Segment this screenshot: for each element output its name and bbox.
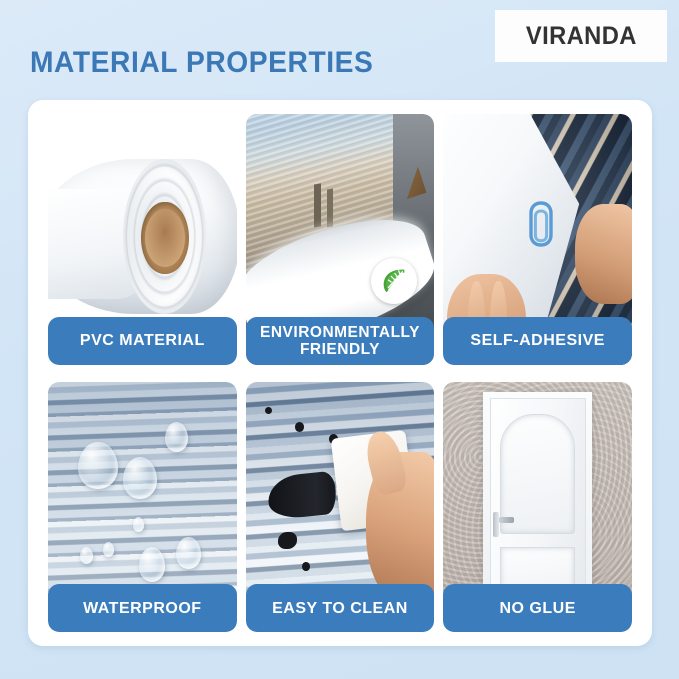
- water-droplet: [139, 547, 165, 582]
- feature-grid: PVC MATERIAL: [48, 114, 632, 632]
- pvc-core-inner: [145, 209, 185, 267]
- feature-label-waterproof: WATERPROOF: [48, 584, 237, 632]
- brand-name: VIRANDA: [526, 22, 637, 51]
- feature-tile-pvc-material[interactable]: PVC MATERIAL: [48, 114, 237, 365]
- door-handle: [493, 512, 499, 537]
- water-droplet: [176, 537, 201, 570]
- feature-label-self-adhesive: SELF-ADHESIVE: [443, 317, 632, 365]
- leaf-icon: [379, 266, 409, 296]
- feature-tile-environmentally-friendly[interactable]: ENVIRONMENTALLYFRIENDLY: [246, 114, 435, 365]
- paperclip-icon: [521, 197, 561, 255]
- water-droplet: [133, 517, 144, 532]
- infographic-page: MATERIAL PROPERTIES VIRANDA PVC MATERIAL: [0, 0, 679, 679]
- water-droplet: [165, 422, 188, 452]
- water-droplet: [123, 457, 157, 500]
- pier-post-second: [327, 189, 333, 227]
- paperclip-badge: [521, 197, 561, 260]
- door-panel-upper: [500, 414, 575, 534]
- water-droplet: [103, 542, 114, 557]
- feature-panel: PVC MATERIAL: [28, 100, 652, 646]
- ink-spot: [278, 532, 297, 550]
- roll-tip-corner: [399, 167, 427, 200]
- ink-smear: [266, 471, 338, 520]
- page-title: MATERIAL PROPERTIES: [30, 46, 373, 80]
- feature-tile-waterproof[interactable]: WATERPROOF: [48, 382, 237, 633]
- brand-logo-box: VIRANDA: [495, 10, 667, 62]
- feature-label-environmentally-friendly: ENVIRONMENTALLYFRIENDLY: [246, 317, 435, 365]
- feature-tile-self-adhesive[interactable]: SELF-ADHESIVE: [443, 114, 632, 365]
- ink-spot: [295, 422, 304, 432]
- water-droplet: [80, 547, 93, 565]
- ink-spot: [265, 407, 273, 415]
- feature-tile-no-glue[interactable]: NO GLUE: [443, 382, 632, 633]
- feature-label-pvc-material: PVC MATERIAL: [48, 317, 237, 365]
- feature-label-no-glue: NO GLUE: [443, 584, 632, 632]
- ink-spot: [302, 562, 310, 571]
- header: MATERIAL PROPERTIES VIRANDA: [0, 0, 679, 100]
- right-hand: [575, 204, 632, 304]
- feature-label-easy-to-clean: EASY TO CLEAN: [246, 584, 435, 632]
- feature-tile-easy-to-clean[interactable]: EASY TO CLEAN: [246, 382, 435, 633]
- water-droplet: [78, 442, 118, 490]
- hand-holding-cloth: [366, 452, 434, 602]
- pier-post: [314, 184, 321, 228]
